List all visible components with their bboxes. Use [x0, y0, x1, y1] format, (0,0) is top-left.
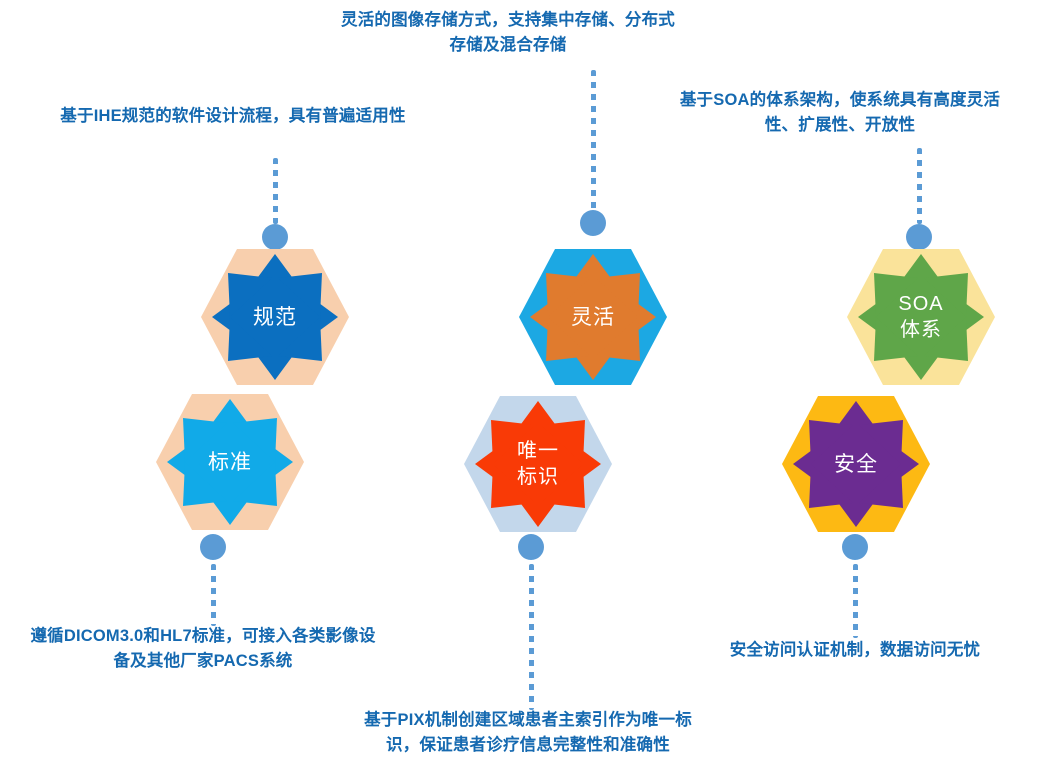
- caption-top-middle: 灵活的图像存储方式，支持集中存储、分布式 存储及混合存储: [288, 8, 728, 58]
- badge-shape: [462, 394, 614, 534]
- connector-dot: [518, 534, 544, 560]
- caption-top-left: 基于IHE规范的软件设计流程，具有普遍适用性: [18, 104, 448, 129]
- connector-dot: [580, 210, 606, 236]
- badge-weiyibiaoshi[interactable]: 唯一 标识: [462, 394, 614, 534]
- connector-stem: [211, 564, 216, 626]
- badge-shape: [199, 247, 351, 387]
- badge-soa[interactable]: SOA 体系: [845, 247, 997, 387]
- connector-dot: [200, 534, 226, 560]
- caption-top-right: 基于SOA的体系架构，使系统具有高度灵活 性、扩展性、开放性: [640, 88, 1040, 138]
- connector-stem: [273, 158, 278, 224]
- badge-shape: [517, 247, 669, 387]
- badge-guifan[interactable]: 规范: [199, 247, 351, 387]
- caption-bottom-middle: 基于PIX机制创建区域患者主索引作为唯一标 识，保证患者诊疗信息完整性和准确性: [318, 708, 738, 758]
- connector-dot: [842, 534, 868, 560]
- badge-linghuo[interactable]: 灵活: [517, 247, 669, 387]
- connector-bottom-left: [200, 534, 226, 626]
- caption-bottom-left: 遵循DICOM3.0和HL7标准，可接入各类影像设 备及其他厂家PACS系统: [4, 624, 402, 674]
- connector-top-middle: [580, 70, 606, 236]
- connector-stem: [529, 564, 534, 710]
- connector-stem: [917, 148, 922, 224]
- badge-shape: [154, 392, 306, 532]
- diagram-canvas: 基于IHE规范的软件设计流程，具有普遍适用性 灵活的图像存储方式，支持集中存储、…: [0, 0, 1047, 772]
- connector-bottom-right: [842, 534, 868, 638]
- badge-biaozhun[interactable]: 标准: [154, 392, 306, 532]
- connector-top-right: [906, 148, 932, 250]
- connector-stem: [853, 564, 858, 638]
- badge-shape: [845, 247, 997, 387]
- connector-top-left: [262, 158, 288, 250]
- connector-stem: [591, 70, 596, 210]
- badge-anquan[interactable]: 安全: [780, 394, 932, 534]
- connector-bottom-middle: [518, 534, 544, 710]
- badge-shape: [780, 394, 932, 534]
- caption-bottom-right: 安全访问认证机制，数据访问无忧: [690, 638, 1020, 663]
